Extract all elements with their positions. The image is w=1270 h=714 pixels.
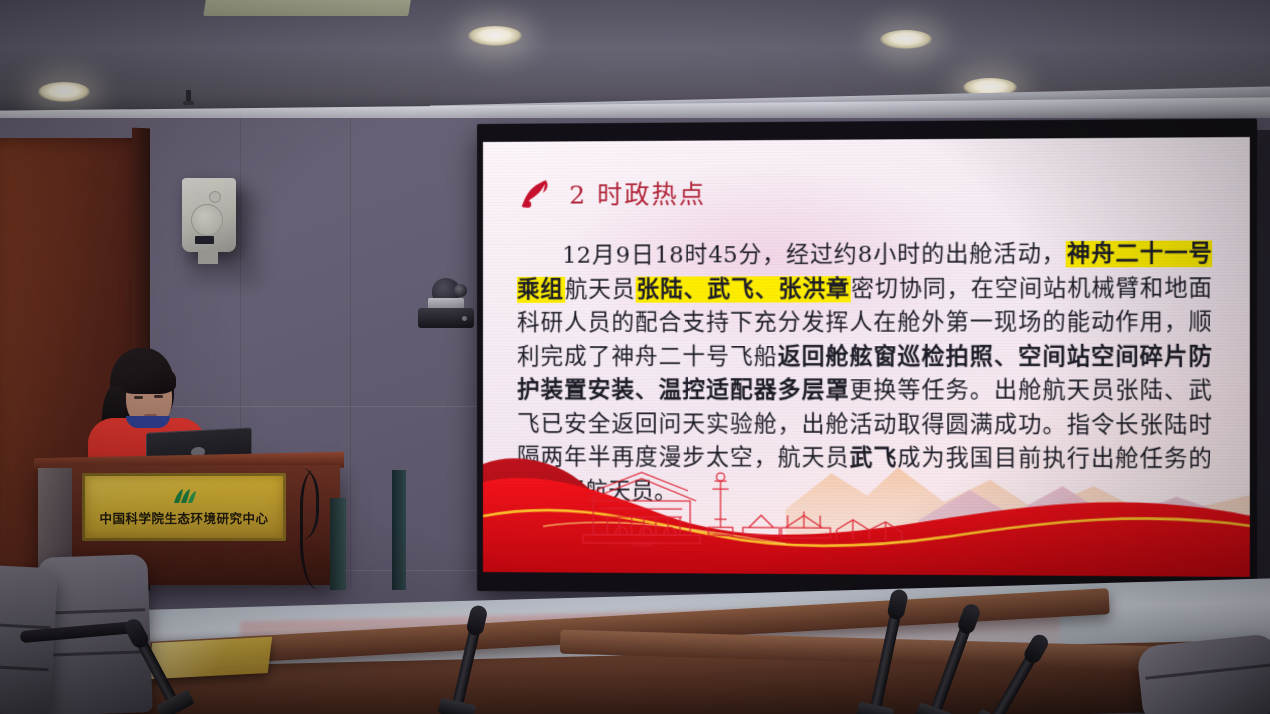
podium-plaque-text: 中国科学院生态环境研究中心 xyxy=(99,508,268,527)
presenter-collar xyxy=(126,416,170,428)
recessed-downlight xyxy=(880,30,932,49)
speaker-brand-badge xyxy=(195,236,214,244)
speaker-port-icon xyxy=(195,192,202,199)
slide-canvas: 2 时政热点 12月9日18时45分，经过约8小时的出舱活动，神舟二十一号乘组航… xyxy=(483,137,1250,577)
speaker-woofer-icon xyxy=(191,204,223,236)
nameplate-glare xyxy=(148,637,272,680)
slide-footer-graphic: CHINA xyxy=(483,422,1250,577)
slide-text-segment: 航天员 xyxy=(565,276,636,302)
slide-text-segment: 张陆、武飞、张洪章 xyxy=(635,276,851,303)
floor-stand xyxy=(330,498,346,590)
svg-text:CHINA: CHINA xyxy=(632,542,653,549)
speaker-tweeter-icon xyxy=(209,191,221,203)
podium-plaque: 中国科学院生态环境研究中心 xyxy=(82,473,286,541)
recessed-downlight xyxy=(468,26,522,46)
recessed-downlight xyxy=(38,82,90,102)
cas-eco-environment-logo-icon xyxy=(171,488,197,506)
ptz-camera xyxy=(418,278,474,328)
camera-lens-icon xyxy=(454,284,467,297)
conference-room-scene: 2 时政热点 12月9日18时45分，经过约8小时的出舱活动，神舟二十一号乘组航… xyxy=(0,0,1270,714)
fire-sprinkler xyxy=(186,90,191,104)
floor-stand xyxy=(392,470,406,590)
slide-text-segment: 12月9日18时45分，经过约8小时的出舱活动， xyxy=(562,241,1066,269)
desk-nameplate xyxy=(148,637,272,680)
wall-panel-seam xyxy=(350,118,351,588)
ceiling-panel xyxy=(203,0,411,16)
slide-title: 2 时政热点 xyxy=(515,173,706,214)
presenter-fringe xyxy=(118,364,176,394)
led-display-screen: 2 时政热点 12月9日18时45分，经过约8小时的出舱活动，神舟二十一号乘组航… xyxy=(477,119,1257,597)
slide-title-text: 2 时政热点 xyxy=(569,175,706,212)
presenter-eye xyxy=(154,395,163,398)
party-emblem-icon xyxy=(515,174,555,214)
speaker-bracket xyxy=(198,250,218,264)
camera-led-icon xyxy=(462,316,467,321)
presenter-eye xyxy=(134,396,143,399)
wall-mounted-speaker xyxy=(182,178,236,252)
conference-chair xyxy=(1136,633,1270,714)
